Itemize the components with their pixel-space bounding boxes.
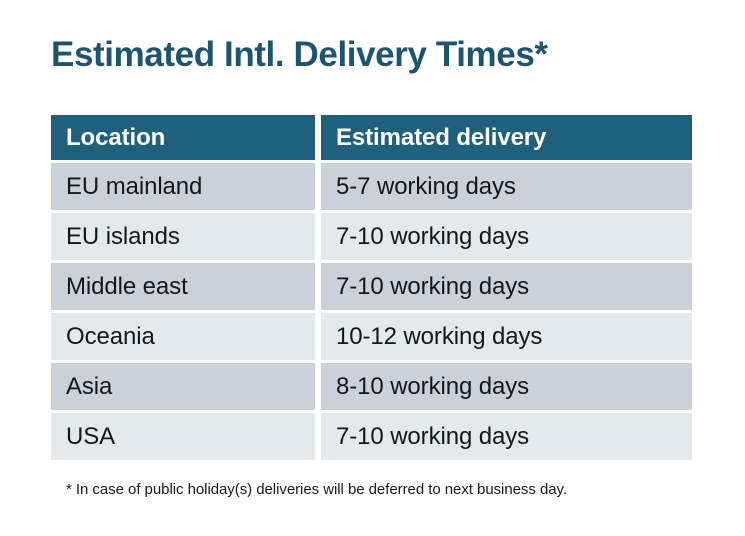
cell-location: Middle east bbox=[51, 263, 315, 310]
cell-location: Asia bbox=[51, 363, 315, 410]
cell-location: Oceania bbox=[51, 313, 315, 360]
estimated-delivery-table: Location Estimated delivery EU mainland … bbox=[51, 115, 692, 460]
footnote-text: * In case of public holiday(s) deliverie… bbox=[66, 481, 567, 498]
column-header-location: Location bbox=[51, 115, 315, 160]
cell-location: USA bbox=[51, 413, 315, 460]
cell-estimated-delivery: 10-12 working days bbox=[321, 313, 692, 360]
column-header-estimated-delivery: Estimated delivery bbox=[321, 115, 692, 160]
cell-estimated-delivery: 7-10 working days bbox=[321, 413, 692, 460]
table-row: Middle east 7-10 working days bbox=[51, 263, 692, 310]
delivery-times-page: Estimated Intl. Delivery Times* Location… bbox=[0, 0, 745, 536]
page-title: Estimated Intl. Delivery Times* bbox=[51, 36, 548, 75]
table-row: EU islands 7-10 working days bbox=[51, 213, 692, 260]
table-row: Oceania 10-12 working days bbox=[51, 313, 692, 360]
cell-location: EU islands bbox=[51, 213, 315, 260]
cell-estimated-delivery: 5-7 working days bbox=[321, 163, 692, 210]
table-row: Asia 8-10 working days bbox=[51, 363, 692, 410]
table-header-row: Location Estimated delivery bbox=[51, 115, 692, 160]
cell-estimated-delivery: 8-10 working days bbox=[321, 363, 692, 410]
table-row: USA 7-10 working days bbox=[51, 413, 692, 460]
cell-estimated-delivery: 7-10 working days bbox=[321, 213, 692, 260]
cell-estimated-delivery: 7-10 working days bbox=[321, 263, 692, 310]
table-row: EU mainland 5-7 working days bbox=[51, 163, 692, 210]
cell-location: EU mainland bbox=[51, 163, 315, 210]
